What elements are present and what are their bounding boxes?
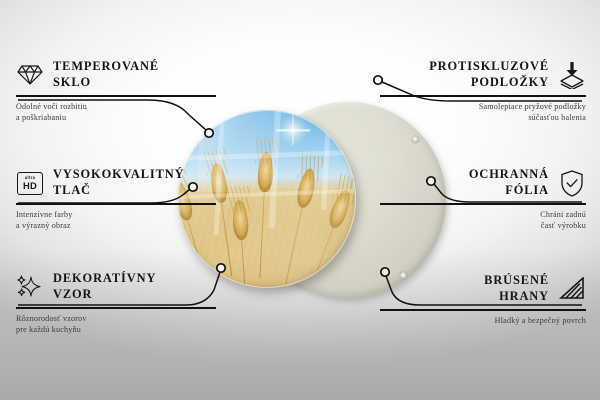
feature-title: TEMPEROVANÉSKLO (53, 59, 159, 91)
divider (380, 203, 586, 205)
feature-anti-slip-pads: PROTISKLUZOVÉPODLOŽKY Samolepiace pryžov… (380, 58, 586, 124)
feature-title: BRÚSENÉHRANY (484, 273, 549, 305)
infographic-canvas: TEMPEROVANÉSKLO Odolné voči rozbitiua po… (0, 0, 600, 400)
divider (380, 309, 586, 311)
feature-protective-foil: OCHRANNÁFÓLIA Chráni zadnúčasť výrobku (380, 166, 586, 232)
feature-subtitle: Intenzívne farbya výrazný obraz (16, 209, 216, 232)
feature-high-quality-print: ultra HD VYSOKOKVALITNÝTLAČ Intenzívne f… (16, 166, 216, 232)
feature-tempered-glass: TEMPEROVANÉSKLO Odolné voči rozbitiua po… (16, 58, 216, 124)
sparkles-icon (16, 273, 44, 301)
divider (380, 95, 586, 97)
feature-title: PROTISKLUZOVÉPODLOŽKY (429, 59, 549, 91)
hatched-triangle-icon (558, 275, 586, 303)
divider (16, 307, 216, 309)
ultra-hd-badge-icon: ultra HD (16, 169, 44, 197)
arrow-press-pad-icon (558, 61, 586, 89)
feature-title: VYSOKOKVALITNÝTLAČ (53, 167, 184, 199)
divider (16, 203, 216, 205)
feature-title: DEKORATÍVNYVZOR (53, 271, 156, 303)
feature-subtitle: Rôznorodosť vzorovpre každú kuchyňu (16, 313, 216, 336)
feature-subtitle: Samolepiace pryžové podložkysúčasťou bal… (380, 101, 586, 124)
divider (16, 95, 216, 97)
feature-subtitle: Odolné voči rozbitiua poškriabaniu (16, 101, 216, 124)
feature-decorative-pattern: DEKORATÍVNYVZOR Rôznorodosť vzorovpre ka… (16, 270, 216, 336)
anti-slip-pad (412, 136, 419, 143)
feature-subtitle: Chráni zadnúčasť výrobku (380, 209, 586, 232)
diamond-icon (16, 61, 44, 89)
feature-subtitle: Hladký a bezpečný povrch (380, 315, 586, 327)
feature-title: OCHRANNÁFÓLIA (469, 167, 549, 199)
shield-check-icon (558, 169, 586, 197)
feature-polished-edges: BRÚSENÉHRANY Hladký a bezpečný povrch (380, 272, 586, 326)
